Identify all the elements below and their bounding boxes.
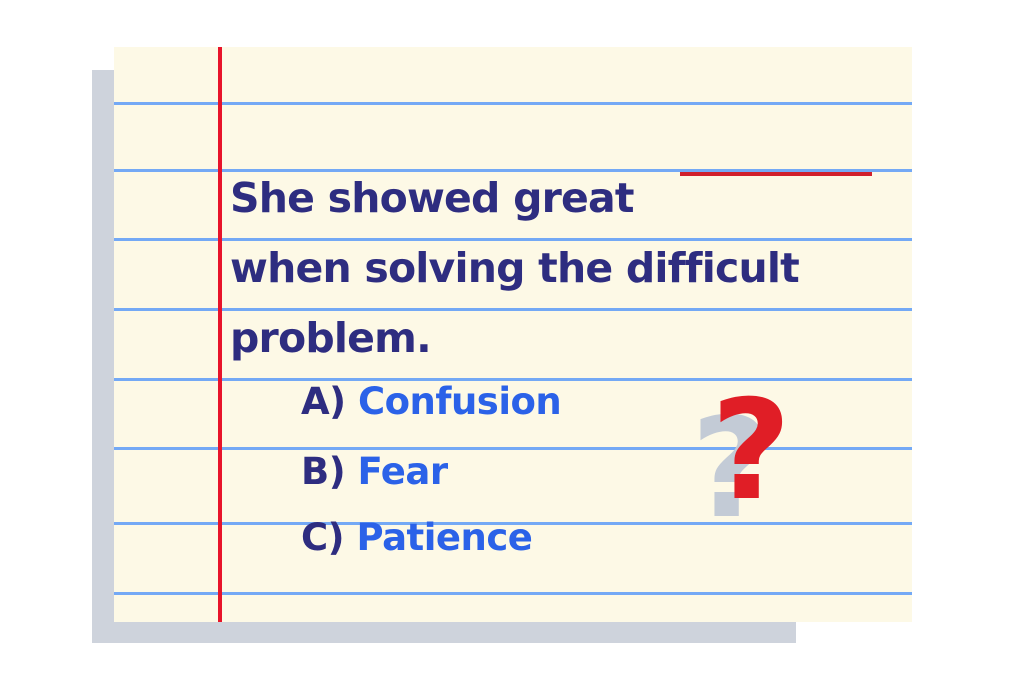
option-b[interactable]: B) Fear (301, 453, 448, 490)
option-c-letter: C) (301, 516, 344, 559)
worksheet-scene: She showed great when solving the diffic… (0, 0, 1024, 683)
question-line-3: problem. (230, 318, 431, 359)
question-line-1: She showed great (230, 178, 634, 219)
question-line-2: when solving the difficult (230, 248, 799, 289)
option-c[interactable]: C) Patience (301, 519, 532, 556)
notebook-paper: She showed great when solving the diffic… (114, 47, 912, 622)
option-c-text: Patience (356, 516, 532, 559)
worksheet-content: She showed great when solving the diffic… (114, 47, 912, 622)
option-b-text: Fear (358, 450, 448, 493)
question-mark-icon: ? (711, 382, 791, 520)
option-b-letter: B) (301, 450, 345, 493)
option-a-text: Confusion (358, 380, 561, 423)
question-mark-graphic: ? ? (689, 382, 809, 542)
option-a-letter: A) (301, 380, 346, 423)
answer-blank[interactable] (680, 172, 872, 176)
option-a[interactable]: A) Confusion (301, 383, 561, 420)
